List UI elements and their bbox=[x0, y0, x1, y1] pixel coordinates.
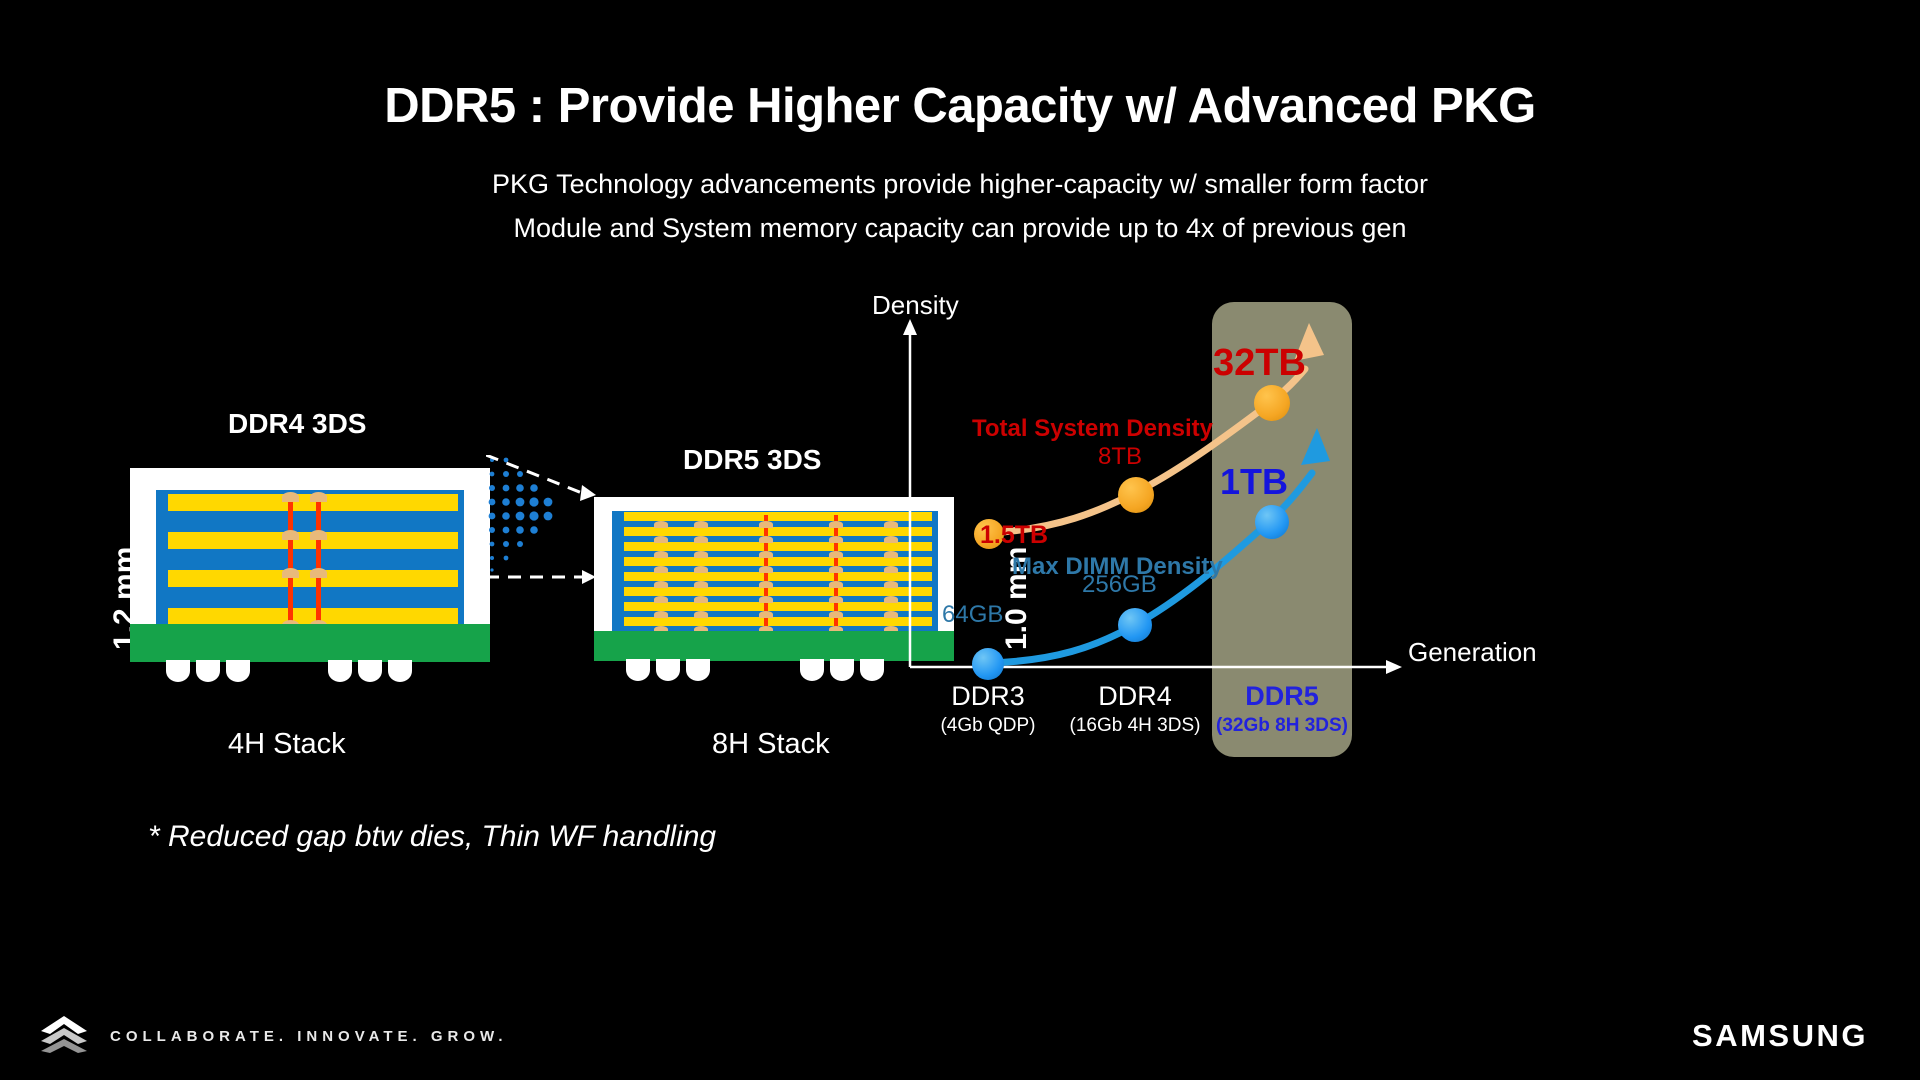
microbump bbox=[759, 536, 773, 543]
microbump bbox=[654, 551, 668, 558]
data-point-dimm-ddr3 bbox=[972, 648, 1004, 680]
data-point-total-ddr4 bbox=[1118, 477, 1154, 513]
x-tick-ddr5-name: DDR5 bbox=[1212, 681, 1352, 712]
page-subtitle: PKG Technology advancements provide high… bbox=[0, 162, 1920, 250]
microbump bbox=[829, 596, 843, 603]
solder-ball bbox=[800, 659, 824, 681]
page-title: DDR5 : Provide Higher Capacity w/ Advanc… bbox=[0, 78, 1920, 134]
x-tick-ddr3: DDR3 (4Gb QDP) bbox=[918, 681, 1058, 737]
data-point-dimm-ddr5 bbox=[1255, 505, 1289, 539]
solder-ball bbox=[388, 660, 412, 682]
solder-ball bbox=[328, 660, 352, 682]
microbump bbox=[759, 581, 773, 588]
substrate bbox=[130, 624, 490, 662]
solder-ball bbox=[196, 660, 220, 682]
solder-ball bbox=[626, 659, 650, 681]
solder-ball bbox=[686, 659, 710, 681]
microbump bbox=[694, 581, 708, 588]
value-label-dimm-ddr5: 1TB bbox=[1220, 461, 1288, 503]
diagram-footnote: * Reduced gap btw dies, Thin WF handling bbox=[148, 820, 716, 854]
microbump bbox=[694, 536, 708, 543]
microbump bbox=[829, 521, 843, 528]
solder-ball bbox=[656, 659, 680, 681]
ddr4-package-title: DDR4 3DS bbox=[228, 408, 366, 440]
value-label-total-ddr5: 32TB bbox=[1213, 342, 1306, 385]
y-axis-label: Density bbox=[872, 290, 959, 321]
data-point-dimm-ddr4 bbox=[1118, 608, 1152, 642]
microbump bbox=[310, 568, 327, 578]
solder-ball bbox=[166, 660, 190, 682]
microbump bbox=[310, 492, 327, 502]
ddr4-package-graphic bbox=[130, 468, 490, 668]
solder-ball bbox=[830, 659, 854, 681]
x-axis-label: Generation bbox=[1408, 637, 1537, 668]
microbump bbox=[759, 551, 773, 558]
x-tick-ddr4-name: DDR4 bbox=[1065, 681, 1205, 712]
value-label-dimm-ddr3: 64GB bbox=[942, 601, 1003, 629]
microbump bbox=[829, 536, 843, 543]
footer-tagline: COLLABORATE. INNOVATE. GROW. bbox=[110, 1028, 508, 1045]
microbump bbox=[829, 581, 843, 588]
microbump bbox=[759, 596, 773, 603]
microbump bbox=[282, 568, 299, 578]
microbump bbox=[654, 521, 668, 528]
slide-root: DDR5 : Provide Higher Capacity w/ Advanc… bbox=[0, 0, 1920, 1080]
microbump bbox=[694, 596, 708, 603]
microbump bbox=[654, 536, 668, 543]
microbump bbox=[694, 521, 708, 528]
tsv-column bbox=[288, 498, 293, 632]
samsung-logo: SAMSUNG bbox=[1692, 1018, 1868, 1054]
microbump bbox=[654, 596, 668, 603]
x-tick-ddr5-sub: (32Gb 8H 3DS) bbox=[1212, 715, 1352, 737]
value-label-total-ddr3: 1.5TB bbox=[980, 521, 1048, 550]
value-label-total-ddr4: 8TB bbox=[1098, 443, 1142, 471]
x-tick-ddr4: DDR4 (16Gb 4H 3DS) bbox=[1065, 681, 1205, 737]
microbump bbox=[654, 611, 668, 618]
series-label-total-system-density: Total System Density bbox=[972, 415, 1213, 443]
density-generation-chart: Density Generation Total System Density … bbox=[880, 285, 1900, 765]
tsv-column bbox=[316, 498, 321, 632]
microbump bbox=[694, 611, 708, 618]
microbump bbox=[829, 566, 843, 573]
expansion-guide-lines bbox=[486, 455, 606, 585]
microbump bbox=[282, 492, 299, 502]
microbump bbox=[282, 530, 299, 540]
subtitle-line-1: PKG Technology advancements provide high… bbox=[0, 162, 1920, 206]
x-tick-ddr4-sub: (16Gb 4H 3DS) bbox=[1065, 715, 1205, 737]
microbump bbox=[759, 611, 773, 618]
microbump bbox=[759, 566, 773, 573]
solder-ball bbox=[358, 660, 382, 682]
subtitle-line-2: Module and System memory capacity can pr… bbox=[0, 206, 1920, 250]
microbump bbox=[829, 611, 843, 618]
chevron-stack-logo-icon bbox=[40, 1014, 88, 1054]
x-tick-ddr3-name: DDR3 bbox=[918, 681, 1058, 712]
microbump bbox=[759, 521, 773, 528]
microbump bbox=[829, 551, 843, 558]
ddr5-package-title: DDR5 3DS bbox=[683, 444, 821, 476]
x-tick-ddr5: DDR5 (32Gb 8H 3DS) bbox=[1212, 681, 1352, 737]
ddr5-stack-label: 8H Stack bbox=[712, 728, 830, 761]
microbump bbox=[694, 551, 708, 558]
microbump bbox=[310, 530, 327, 540]
microbump bbox=[694, 566, 708, 573]
solder-ball bbox=[226, 660, 250, 682]
data-point-total-ddr5 bbox=[1254, 385, 1290, 421]
x-tick-ddr3-sub: (4Gb QDP) bbox=[918, 715, 1058, 737]
ddr4-stack-label: 4H Stack bbox=[228, 728, 346, 761]
value-label-dimm-ddr4: 256GB bbox=[1082, 571, 1157, 599]
microbump bbox=[654, 581, 668, 588]
microbump bbox=[654, 566, 668, 573]
